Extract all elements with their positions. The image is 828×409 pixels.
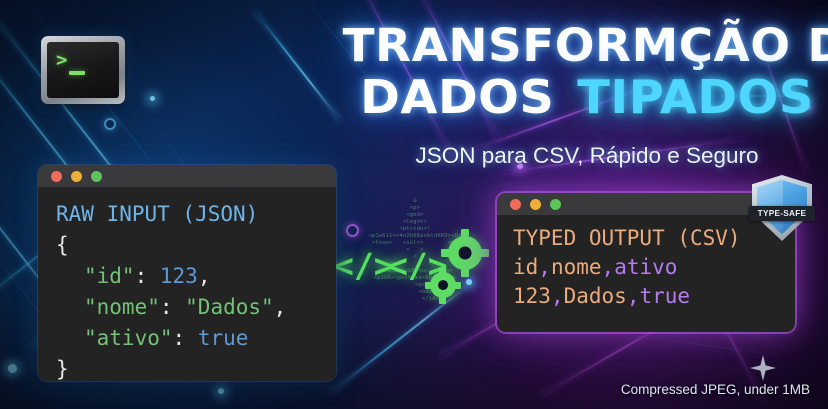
badge-ribbon: TYPE-SAFE <box>749 206 815 221</box>
maximize-icon[interactable] <box>550 199 561 210</box>
terminal-icon: > <box>41 36 125 104</box>
code-gears-graphic: & <p> <god> <legot> <pt>idu<! <p1w6i1><4… <box>330 198 500 320</box>
json-line-nome: "nome": "Dados", <box>56 292 336 323</box>
output-window-body: TYPED OUTPUT (CSV) id,nome,ativo 123,Dad… <box>497 215 795 332</box>
json-line-id: "id": 123, <box>56 261 336 292</box>
title-line-2: DADOSTIPADOS <box>343 75 828 120</box>
json-line-open: { <box>56 230 336 261</box>
terminal-cursor <box>69 71 85 75</box>
terminal-screen: > <box>47 42 119 98</box>
input-heading: RAW INPUT (JSON) <box>56 199 336 230</box>
title-word-tipados: TIPADOS <box>577 70 814 124</box>
minimize-icon[interactable] <box>71 171 82 182</box>
badge-label: TYPE-SAFE <box>758 209 807 218</box>
csv-header-row: id,nome,ativo <box>513 253 795 282</box>
gear-icon-small <box>430 272 456 298</box>
title-line-1: TRANSFORMÇÃO DE <box>343 24 828 68</box>
footer-note: Compressed JPEG, under 1MB <box>621 382 810 397</box>
input-window-titlebar <box>38 165 336 187</box>
code-bracket-left: </> <box>334 246 394 285</box>
type-safe-badge: TYPE-SAFE <box>752 175 812 241</box>
maximize-icon[interactable] <box>91 171 102 182</box>
page-subtitle: JSON para CSV, Rápido e Seguro <box>352 143 822 169</box>
minimize-icon[interactable] <box>530 199 541 210</box>
close-icon[interactable] <box>51 171 62 182</box>
csv-data-row: 123,Dados,true <box>513 282 795 311</box>
close-icon[interactable] <box>510 199 521 210</box>
json-line-ativo: "ativo": true <box>56 323 336 354</box>
input-window-body: RAW INPUT (JSON) { "id": 123, "nome": "D… <box>38 187 336 381</box>
title-word-dados: DADOS <box>360 70 554 124</box>
page-title: TRANSFORMÇÃO DE DADOSTIPADOS <box>352 24 822 120</box>
gear-icon-large <box>448 236 482 270</box>
input-code-window[interactable]: RAW INPUT (JSON) { "id": 123, "nome": "D… <box>38 165 336 381</box>
poster-canvas: > TRANSFORMÇÃO DE DADOSTIPADOS JSON para… <box>0 0 828 409</box>
json-line-close: } <box>56 354 336 381</box>
terminal-prompt-glyph: > <box>56 51 67 70</box>
